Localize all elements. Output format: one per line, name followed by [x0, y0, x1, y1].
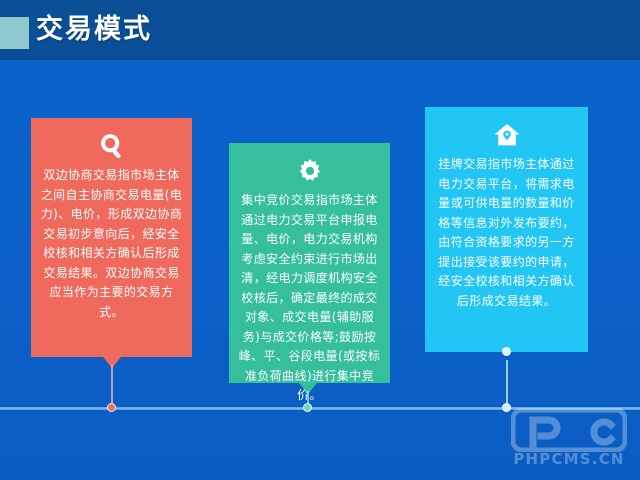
card-text: 挂牌交易指市场主体通过电力交易平台，将需求电量或可供电量的数量和价格等信息对外发…: [434, 155, 579, 311]
slide-header: 交易模式: [0, 0, 640, 60]
search-icon: [97, 131, 127, 161]
watermark: PHPCMS.CN: [505, 408, 633, 474]
watermark-logo-icon: [511, 408, 627, 452]
card-listing-trade[interactable]: 挂牌交易指市场主体通过电力交易平台，将需求电量或可供电量的数量和价格等信息对外发…: [425, 107, 588, 352]
card-centralized-bidding[interactable]: 集中竞价交易指市场主体通过电力交易平台申报电量、电价，电力交易机构考虑安全约束进…: [229, 143, 390, 383]
card-bilateral-negotiation[interactable]: 双边协商交易指市场主体之间自主协商交易电量(电力)、电价，形成双边协商交易初步意…: [31, 118, 192, 357]
card-text: 双边协商交易指市场主体之间自主协商交易电量(电力)、电价，形成双边协商交易初步意…: [40, 166, 183, 322]
card-stem-3: [506, 360, 508, 409]
gear-icon: [295, 156, 325, 186]
slide-canvas: 交易模式 双边协商交易指市场主体之间自主协商交易电量(电力)、电价，形成双边协商…: [0, 0, 640, 480]
header-accent-square: [0, 17, 29, 49]
timeline-dot-2: [303, 403, 312, 412]
card-text: 集中竞价交易指市场主体通过电力交易平台申报电量、电价，电力交易机构考虑安全约束进…: [238, 191, 381, 406]
watermark-text: PHPCMS.CN: [505, 450, 633, 468]
home-icon: [492, 120, 522, 150]
page-title: 交易模式: [36, 13, 152, 47]
timeline-dot-1: [107, 403, 116, 412]
card-connector-dot-3: [502, 347, 511, 356]
